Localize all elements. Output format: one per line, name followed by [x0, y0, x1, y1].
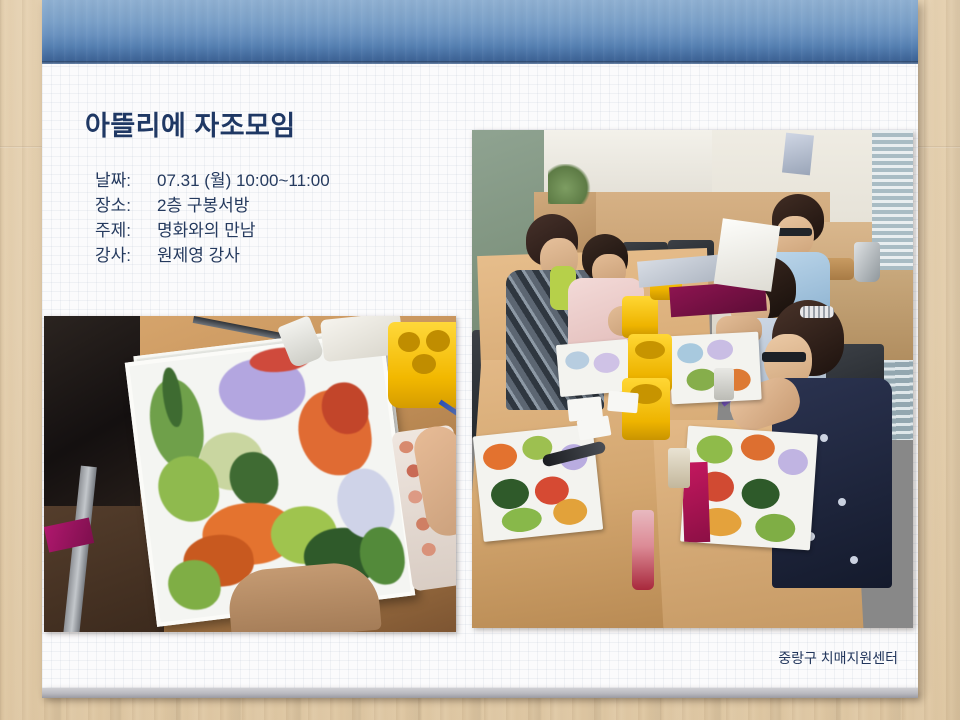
- palette-dot: [399, 440, 415, 454]
- paint-bush: [227, 449, 281, 508]
- paint-blob: [501, 506, 543, 534]
- paint-blob: [740, 433, 776, 461]
- paint-blob: [565, 350, 590, 370]
- electric-kettle: [854, 242, 880, 282]
- artwork-canvas: [473, 424, 603, 542]
- yellow-water-bucket: [388, 322, 456, 408]
- photo-group-painting-class: [472, 130, 913, 628]
- eyeglasses: [762, 352, 806, 362]
- bucket-hole: [635, 341, 665, 359]
- info-row-instructor: 강사: 원제영 강사: [95, 243, 330, 268]
- photo-watercolor-canvas-on-desk: [44, 316, 456, 632]
- info-row-topic: 주제: 명화와의 만남: [95, 218, 330, 243]
- event-info-list: 날짜: 07.31 (월) 10:00~11:00 장소: 2층 구봉서방 주제…: [95, 168, 330, 268]
- bucket-hole: [412, 354, 436, 374]
- artwork-canvas-far-left: [556, 339, 632, 397]
- banner-sheen: [42, 0, 918, 64]
- eyeglasses: [776, 228, 812, 236]
- wall-document: [782, 133, 814, 176]
- palette-dot: [421, 542, 437, 557]
- page-title: 아뜰리에 자조모임: [85, 104, 296, 143]
- artwork-canvas: [680, 426, 818, 551]
- paint-blob: [707, 339, 734, 360]
- paper-sheet-held: [714, 218, 781, 291]
- potted-plant: [548, 164, 592, 204]
- paint-blob: [677, 343, 704, 364]
- paper-cup: [714, 368, 734, 400]
- paper-bottom-edge: [42, 688, 918, 698]
- footer-organization: 중랑구 치매지원센터: [778, 648, 898, 668]
- paint-blob: [686, 368, 717, 392]
- info-label-date: 날짜:: [95, 168, 157, 193]
- paper-cup: [668, 448, 690, 488]
- info-label-instructor: 강사:: [95, 243, 157, 268]
- bucket-hole: [398, 332, 420, 352]
- info-value-date: 07.31 (월) 10:00~11:00: [157, 168, 330, 193]
- info-row-date: 날짜: 07.31 (월) 10:00~11:00: [95, 168, 330, 193]
- floral-dot: [838, 498, 846, 506]
- paint-blob: [696, 434, 734, 464]
- info-value-topic: 명화와의 만남: [157, 218, 256, 243]
- water-bottle: [632, 510, 654, 590]
- bucket-hole: [426, 330, 450, 352]
- tissue: [607, 391, 639, 414]
- paint-blob: [593, 352, 621, 374]
- paint-blob: [777, 448, 809, 476]
- paint-blob: [490, 477, 531, 511]
- yellow-brush-cup: [622, 296, 658, 338]
- paint-blob: [482, 442, 519, 471]
- floral-dot: [850, 556, 858, 564]
- info-label-place: 장소:: [95, 193, 157, 218]
- info-label-topic: 주제:: [95, 218, 157, 243]
- paint-blob: [754, 513, 796, 544]
- info-row-place: 장소: 2층 구봉서방: [95, 193, 330, 218]
- blue-header-banner: [42, 0, 918, 64]
- floral-dot: [820, 434, 828, 442]
- info-value-place: 2층 구봉서방: [157, 193, 249, 218]
- paint-blob: [741, 478, 781, 511]
- presentation-slide: 아뜰리에 자조모임 날짜: 07.31 (월) 10:00~11:00 장소: …: [0, 0, 960, 720]
- info-value-instructor: 원제영 강사: [157, 243, 240, 268]
- hair-clip: [800, 306, 834, 318]
